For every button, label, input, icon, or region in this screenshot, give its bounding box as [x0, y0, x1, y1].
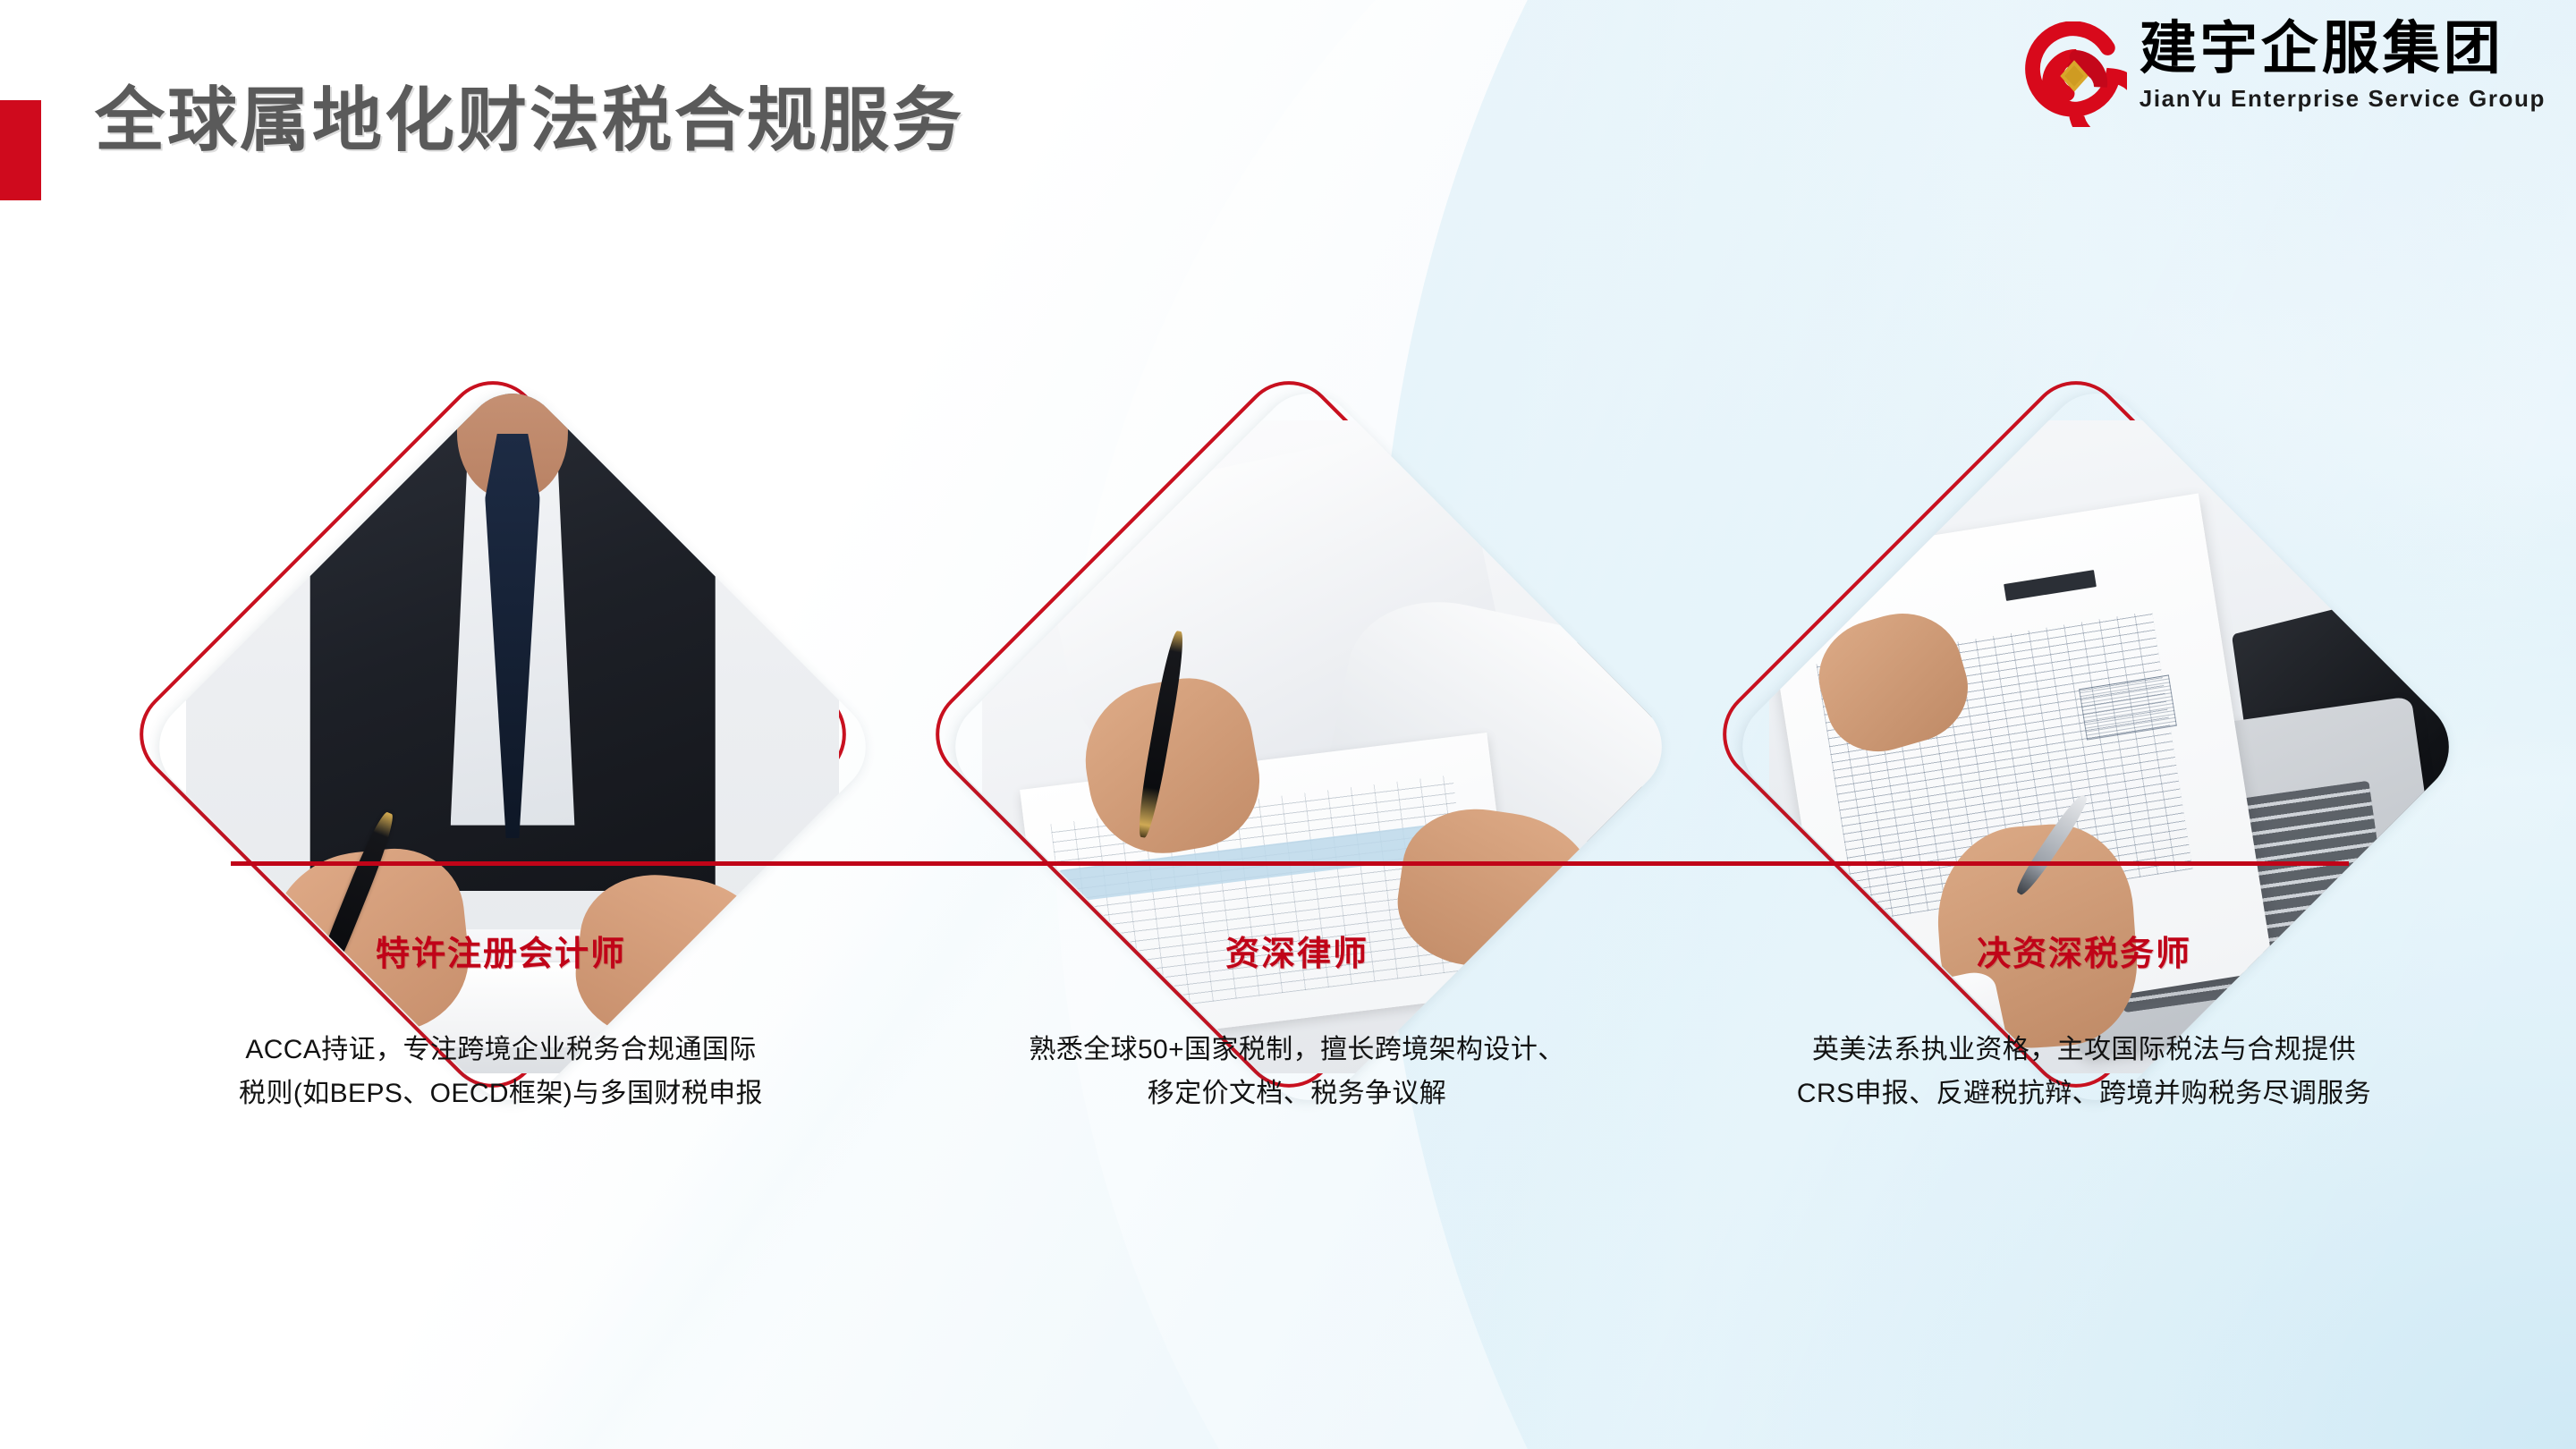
card-desc-1-line2: 税则(如BEPS、OECD框架)与多国财税申报: [116, 1072, 885, 1116]
photo-image-3: [1769, 420, 2422, 1073]
card-desc-1-line1: ACCA持证，专注跨境企业税务合规通国际: [116, 1029, 885, 1072]
photo-frame-2: [936, 374, 1682, 1120]
card-lawyer: 资深律师 熟悉全球50+国家税制，擅长跨境架构设计、 移定价文档、税务争议解: [894, 0, 1699, 1449]
card-desc-3: 英美法系执业资格，主攻国际税法与合规提供 CRS申报、反避税抗辩、跨境并购税务尽…: [1699, 1029, 2469, 1115]
card-tax-advisor: 决资深税务师 英美法系执业资格，主攻国际税法与合规提供 CRS申报、反避税抗辩、…: [1682, 0, 2487, 1449]
photo-image-1: [186, 420, 839, 1073]
slide-canvas: 全球属地化财法税合规服务 建宇企服集团 JianYu Enterprise Se…: [0, 0, 2576, 1449]
card-desc-2: 熟悉全球50+国家税制，擅长跨境架构设计、 移定价文档、税务争议解: [912, 1029, 1682, 1115]
cards-row: 特许注册会计师 ACCA持证，专注跨境企业税务合规通国际 税则(如BEPS、OE…: [0, 0, 2576, 1449]
card-title-3: 决资深税务师: [1682, 926, 2487, 975]
card-desc-2-line2: 移定价文档、税务争议解: [912, 1072, 1682, 1116]
photo-image-2: [982, 420, 1635, 1073]
red-baseline: [231, 861, 2349, 866]
card-desc-3-line1: 英美法系执业资格，主攻国际税法与合规提供: [1699, 1029, 2469, 1072]
card-accountant: 特许注册会计师 ACCA持证，专注跨境企业税务合规通国际 税则(如BEPS、OE…: [98, 0, 903, 1449]
card-desc-3-line2: CRS申报、反避税抗辩、跨境并购税务尽调服务: [1699, 1072, 2469, 1116]
card-title-1: 特许注册会计师: [98, 926, 903, 975]
photo-frame-1: [140, 374, 885, 1120]
card-title-2: 资深律师: [894, 926, 1699, 975]
card-desc-1: ACCA持证，专注跨境企业税务合规通国际 税则(如BEPS、OECD框架)与多国…: [116, 1029, 885, 1115]
photo-frame-3: [1723, 374, 2469, 1120]
card-desc-2-line1: 熟悉全球50+国家税制，擅长跨境架构设计、: [912, 1029, 1682, 1072]
